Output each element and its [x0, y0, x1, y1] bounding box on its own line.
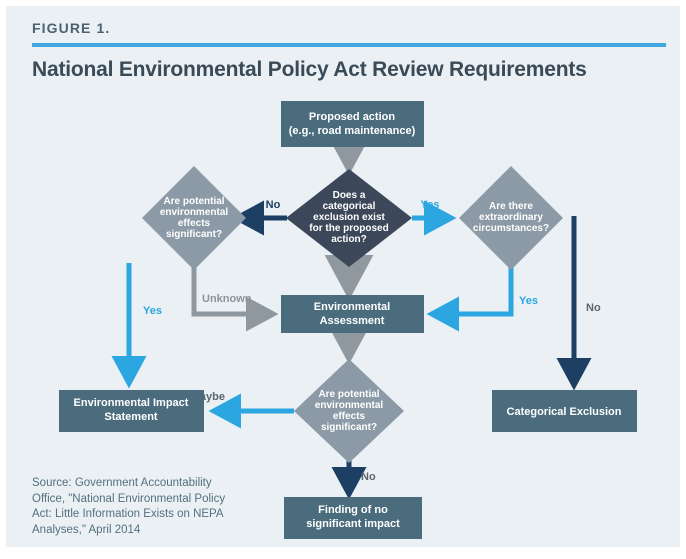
node-proposed-action[interactable]: Proposed action (e.g., road maintenance): [281, 101, 424, 147]
left-question-line-2: environmental: [160, 207, 229, 218]
proposed-action-line-2: (e.g., road maintenance): [289, 125, 416, 137]
right-question-line-1: Are there: [489, 201, 533, 212]
eis-line-2: Statement: [104, 411, 158, 423]
figure-container: FIGURE 1. National Environmental Policy …: [0, 0, 686, 553]
ce-question-line-1: Does a: [333, 190, 366, 201]
edge-left-to-assessment-unknown: [194, 264, 274, 314]
fonsi-line-2: significant impact: [306, 518, 400, 530]
assessment-line-2: Assessment: [320, 315, 385, 327]
edge-label-no-fonsi: No: [361, 471, 376, 483]
edge-label-no-catex: No: [586, 302, 601, 314]
ce-question-line-3: exclusion exist: [313, 212, 385, 223]
proposed-action-line-1: Proposed action: [309, 111, 395, 123]
node-finding-of-no-significant-impact[interactable]: Finding of no significant impact: [284, 497, 422, 539]
bottom-question-line-4: significant?: [321, 422, 377, 433]
assessment-line-1: Environmental: [314, 301, 390, 313]
left-question-line-4: significant?: [166, 229, 222, 240]
node-environmental-assessment[interactable]: Environmental Assessment: [281, 295, 424, 333]
catex-line-1: Categorical Exclusion: [507, 406, 622, 418]
node-extraordinary-circumstances[interactable]: Are there extraordinary circumstances?: [459, 166, 563, 270]
eis-line-1: Environmental Impact: [74, 397, 189, 409]
edge-extraordinary-to-assessment-yes: [431, 264, 511, 314]
bottom-question-line-1: Are potential: [318, 389, 379, 400]
left-question-line-3: effects: [178, 218, 211, 229]
right-question-line-3: circumstances?: [473, 223, 549, 234]
node-environmental-impact-statement[interactable]: Environmental Impact Statement: [59, 390, 204, 432]
edge-label-yes-right: Yes: [421, 199, 440, 211]
proposed-action-box: [281, 101, 424, 147]
source-note: Source: Government Accountability Office…: [32, 476, 247, 538]
ce-question-line-4: for the proposed: [309, 223, 388, 234]
ce-question-line-2: categorical: [323, 201, 376, 212]
right-question-line-2: extraordinary: [479, 212, 543, 223]
node-categorical-exclusion-question[interactable]: Does a categorical exclusion exist for t…: [286, 169, 412, 267]
edge-label-yes-eis: Yes: [143, 305, 162, 317]
node-effects-significant-left[interactable]: Are potential environmental effects sign…: [142, 166, 246, 270]
ce-question-line-5: action?: [331, 234, 367, 245]
node-categorical-exclusion-result[interactable]: Categorical Exclusion: [492, 390, 637, 432]
bottom-question-line-3: effects: [333, 411, 366, 422]
fonsi-line-1: Finding of no: [318, 504, 388, 516]
left-question-line-1: Are potential: [163, 196, 224, 207]
bottom-question-line-2: environmental: [315, 400, 384, 411]
edge-label-no-left: No: [266, 199, 281, 211]
node-effects-significant-bottom[interactable]: Are potential environmental effects sign…: [294, 359, 404, 463]
edge-label-unknown: Unknown: [202, 293, 252, 305]
edge-label-yes-assessment: Yes: [519, 295, 538, 307]
